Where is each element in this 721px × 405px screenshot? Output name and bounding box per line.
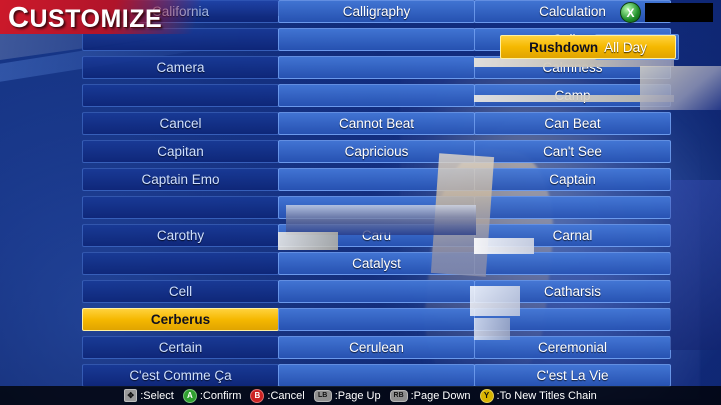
page-title-initial: C [8, 2, 29, 34]
page-title: CUSTOMIZE [8, 2, 162, 35]
column-2: CalligraphyCannot BeatCapriciousCaruCata… [278, 0, 475, 392]
dpad-button-icon: ✥ [124, 389, 137, 402]
legend-item: RB:Page Down [390, 390, 471, 402]
title-cell[interactable]: C'est La Vie [474, 364, 671, 387]
title-cell[interactable]: Cerberus [82, 308, 279, 331]
title-cell-empty[interactable] [278, 84, 475, 107]
title-cell[interactable]: Cerulean [278, 336, 475, 359]
page-title-rest: USTOMIZE [29, 5, 162, 33]
legend-item: ✥:Select [124, 389, 174, 402]
title-cell-empty[interactable] [278, 308, 475, 331]
title-cell-empty[interactable] [278, 28, 475, 51]
legend-item: A:Confirm [183, 389, 242, 403]
title-cell[interactable]: C'est Comme Ça [82, 364, 279, 387]
legend-item: LB:Page Up [314, 390, 381, 402]
overlay-trailing-label: All Day [604, 40, 647, 55]
title-cell-empty[interactable] [474, 196, 671, 219]
legend-label: :To New Titles Chain [497, 390, 597, 402]
title-cell-empty[interactable] [474, 252, 671, 275]
guide-indicator [620, 2, 713, 23]
title-cell[interactable]: Carothy [82, 224, 279, 247]
title-cell[interactable]: Carnal [474, 224, 671, 247]
a-button-icon: A [183, 389, 197, 403]
title-cell-empty[interactable] [278, 280, 475, 303]
title-cell[interactable]: Camera [82, 56, 279, 79]
title-cell[interactable]: Cannot Beat [278, 112, 475, 135]
title-cell[interactable]: Captain [474, 168, 671, 191]
title-cell[interactable]: Captain Emo [82, 168, 279, 191]
lb-button-icon: LB [314, 390, 332, 402]
title-cell[interactable]: Capitan [82, 140, 279, 163]
title-cell[interactable]: Certain [82, 336, 279, 359]
title-cell[interactable]: Camp [474, 84, 671, 107]
legend-item: Y:To New Titles Chain [480, 389, 597, 403]
xbox-guide-icon[interactable] [620, 2, 641, 23]
title-cell[interactable]: Capricious [278, 140, 475, 163]
title-cell[interactable]: Cell [82, 280, 279, 303]
title-cell-empty[interactable] [278, 56, 475, 79]
title-cell-empty[interactable] [82, 252, 279, 275]
rb-button-icon: RB [390, 390, 408, 402]
title-cell[interactable]: Calligraphy [278, 0, 475, 23]
title-cell-empty[interactable] [474, 308, 671, 331]
title-cell[interactable]: Catalyst [278, 252, 475, 275]
y-button-icon: Y [480, 389, 494, 403]
title-cell-empty[interactable] [278, 196, 475, 219]
legend-label: :Cancel [267, 390, 304, 402]
legend-label: :Confirm [200, 390, 242, 402]
highlighted-overlay-label: Rushdown [529, 40, 598, 55]
column-1: CaliforniaCameraCancelCapitanCaptain Emo… [82, 0, 279, 392]
b-button-icon: B [250, 389, 264, 403]
title-cell-empty[interactable] [82, 196, 279, 219]
title-cell-empty[interactable] [278, 168, 475, 191]
title-cell[interactable]: Cancel [82, 112, 279, 135]
title-cell[interactable]: Ceremonial [474, 336, 671, 359]
highlighted-overlay-cell[interactable]: Rushdown All Day [500, 35, 676, 59]
button-legend-bar: ✥:SelectA:ConfirmB:CancelLB:Page UpRB:Pa… [0, 386, 721, 405]
title-cell-empty[interactable] [278, 364, 475, 387]
title-cell[interactable]: Can Beat [474, 112, 671, 135]
legend-item: B:Cancel [250, 389, 304, 403]
legend-label: :Page Up [335, 390, 381, 402]
title-cell-empty[interactable] [82, 84, 279, 107]
title-cell[interactable]: Can't See [474, 140, 671, 163]
gamertag-redaction [645, 3, 713, 22]
legend-label: :Page Down [411, 390, 471, 402]
legend-label: :Select [140, 390, 174, 402]
title-cell[interactable]: Caru [278, 224, 475, 247]
title-cell[interactable]: Catharsis [474, 280, 671, 303]
